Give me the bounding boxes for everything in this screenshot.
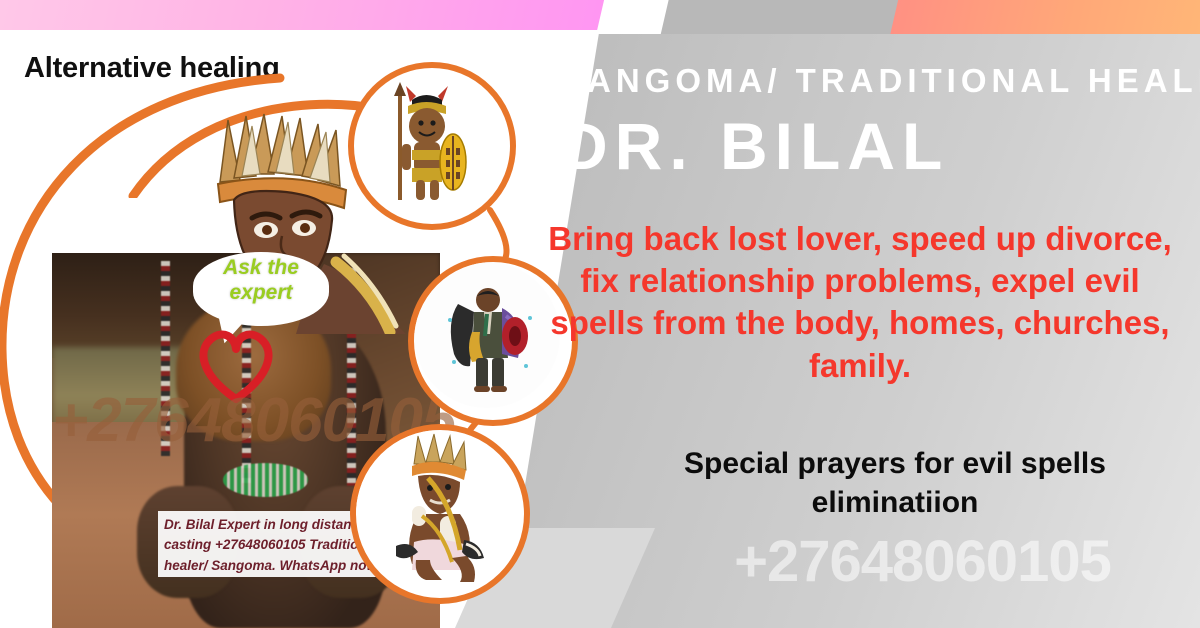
special-prayers-text: Special prayers for evil spells eliminat… [600, 444, 1190, 522]
page-title: Alternative healing [24, 52, 280, 85]
circle-crouching-dancer[interactable] [350, 424, 530, 604]
pink-strip-decoration [0, 0, 605, 30]
doctor-name-title: DR. BILAL [560, 108, 1180, 184]
services-text: Bring back lost lover, speed up divorce,… [540, 218, 1180, 387]
phone-number-watermark: +27648060105 [650, 528, 1195, 595]
traditional-diviner-icon [414, 262, 560, 408]
orange-strip-decoration [890, 0, 1200, 34]
poster-canvas: Alternative healing [0, 0, 1200, 628]
zulu-warrior-icon [354, 68, 498, 212]
speech-bubble-text: Ask the expert [196, 256, 326, 306]
subtitle: SANGOMA/ TRADITIONAL HEALER [560, 62, 1180, 100]
crouching-dancer-icon [356, 430, 512, 586]
circle-zulu-warrior[interactable] [348, 62, 516, 230]
